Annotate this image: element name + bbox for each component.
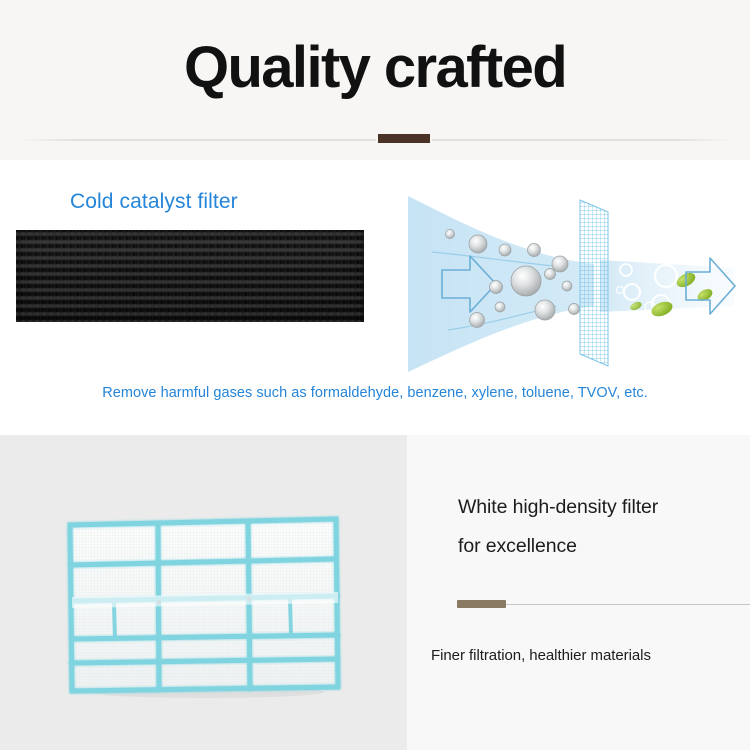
airflow-filtration-diagram [404,194,740,374]
header-accent-bar [376,132,432,145]
product-infographic-page: Quality crafted Cold catalyst filter [0,0,750,750]
page-title: Quality crafted [0,33,750,103]
white-filter-photo-panel [0,435,407,750]
cold-catalyst-caption: Remove harmful gases such as formaldehyd… [0,385,750,401]
white-filter-heading-line2: for excellence [458,527,748,566]
cold-catalyst-section: Cold catalyst filter [0,160,750,435]
white-filter-subcaption: Finer filtration, healthier materials [431,647,651,664]
header-banner: Quality crafted [0,0,750,160]
cold-catalyst-title: Cold catalyst filter [70,190,238,214]
white-filter-text-panel: White high-density filter for excellence… [407,435,750,750]
header-divider-line [18,139,732,141]
white-filter-divider-accent [457,600,506,608]
white-high-density-filter-photo [58,511,348,701]
white-filter-heading-line1: White high-density filter [458,488,748,527]
white-filter-heading: White high-density filter for excellence [458,488,748,566]
cold-catalyst-honeycomb-panel [16,230,364,322]
white-filter-section: White high-density filter for excellence… [0,435,750,750]
